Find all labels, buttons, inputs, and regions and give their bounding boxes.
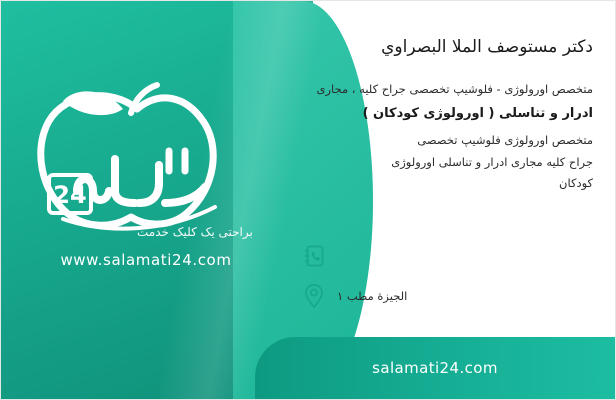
- logo-apple-icon: 24: [19, 79, 269, 239]
- business-card: 24 براحتی یک کلیک خدمت www.salamati24.co…: [0, 0, 616, 400]
- specialty-line-5: کودکان: [299, 173, 593, 194]
- svg-text:24: 24: [53, 181, 86, 209]
- contact-address-label: الجيزة مطب ١: [337, 289, 407, 303]
- footer-bar[interactable]: salamati24.com: [255, 337, 615, 399]
- specialty-line-2: ادرار و تناسلی ( اورولوژی کودکان ): [299, 102, 593, 127]
- phone-book-icon: [301, 241, 327, 271]
- location-pin-icon: [301, 281, 327, 311]
- page-title: دكتر مستوصف الملا؜ البصراوي: [299, 35, 593, 61]
- specialty-line-1: متخصص اورولوژی - فلوشیپ تخصصی جراح کلیه …: [299, 79, 593, 100]
- footer-site-label: salamati24.com: [372, 359, 498, 377]
- specialty-line-4: جراح کلیه مجاری ادرار و تناسلی اورولوژی: [299, 152, 593, 173]
- brand-logo: 24 براحتی یک کلیک خدمت www.salamati24.co…: [19, 79, 269, 269]
- logo-url[interactable]: www.salamati24.com: [31, 251, 261, 269]
- contact-row-phone[interactable]: [301, 241, 601, 271]
- contact-row-address[interactable]: الجيزة مطب ١: [301, 281, 601, 311]
- specialty-line-3: متخصص اورولوژی فلوشیپ تخصصی: [299, 130, 593, 151]
- contact-block: الجيزة مطب ١: [301, 241, 601, 321]
- logo-tagline: براحتی یک کلیک خدمت: [137, 225, 253, 239]
